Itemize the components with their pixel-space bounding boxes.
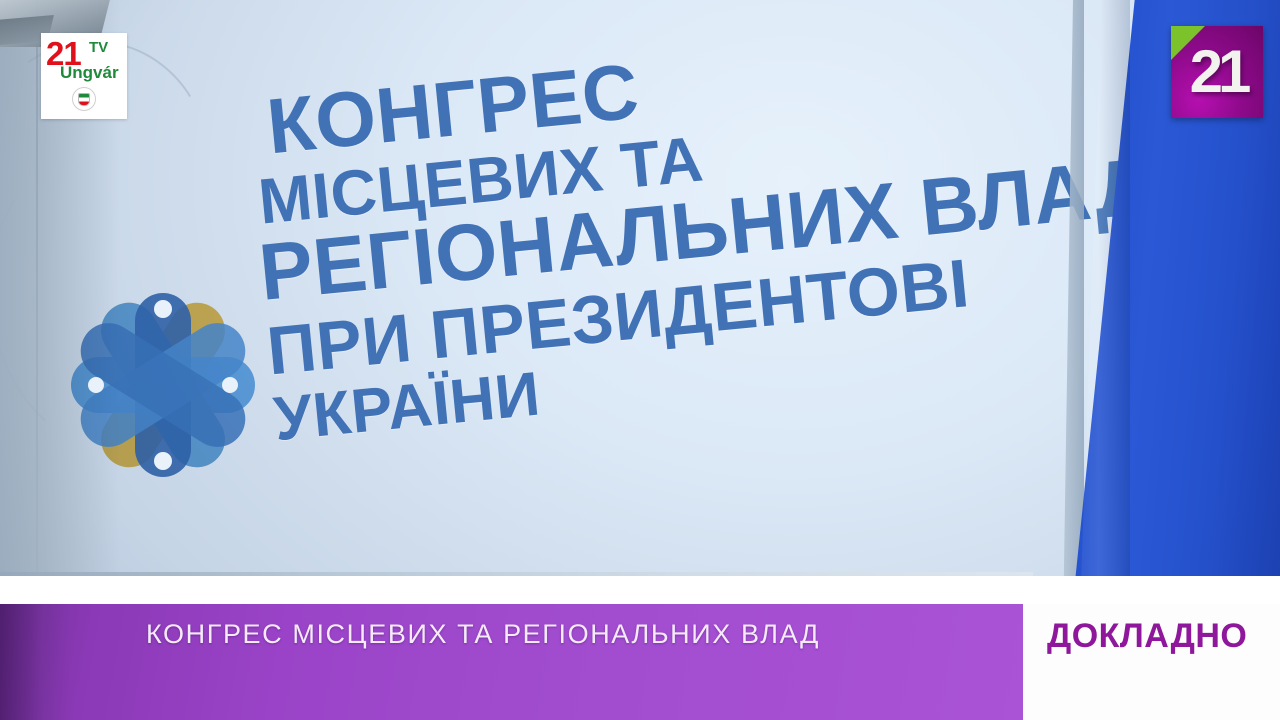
hungarian-crest-icon xyxy=(72,87,96,111)
lower-third-white-gap xyxy=(0,576,1280,604)
station-logo-tv: TV xyxy=(89,40,108,55)
channel-watermark-bug: 21 xyxy=(1171,26,1263,118)
station-logo-row: 21 TV Ungvár xyxy=(41,33,127,77)
crest-shield xyxy=(78,93,90,106)
lower-third-bar-shading xyxy=(0,604,70,720)
broadcast-frame: КОНГРЕС МІСЦЕВИХ ТА РЕГІОНАЛЬНИХ ВЛАД ПР… xyxy=(0,0,1280,720)
station-logo: 21 TV Ungvár xyxy=(41,33,127,119)
station-logo-city: Ungvár xyxy=(60,64,119,81)
lower-third-badge-label: ДОКЛАДНО xyxy=(1047,617,1247,656)
lower-third-headline: КОНГРЕС МІСЦЕВИХ ТА РЕГІОНАЛЬНИХ ВЛАД xyxy=(146,619,820,650)
bug-channel-number: 21 xyxy=(1171,26,1263,118)
